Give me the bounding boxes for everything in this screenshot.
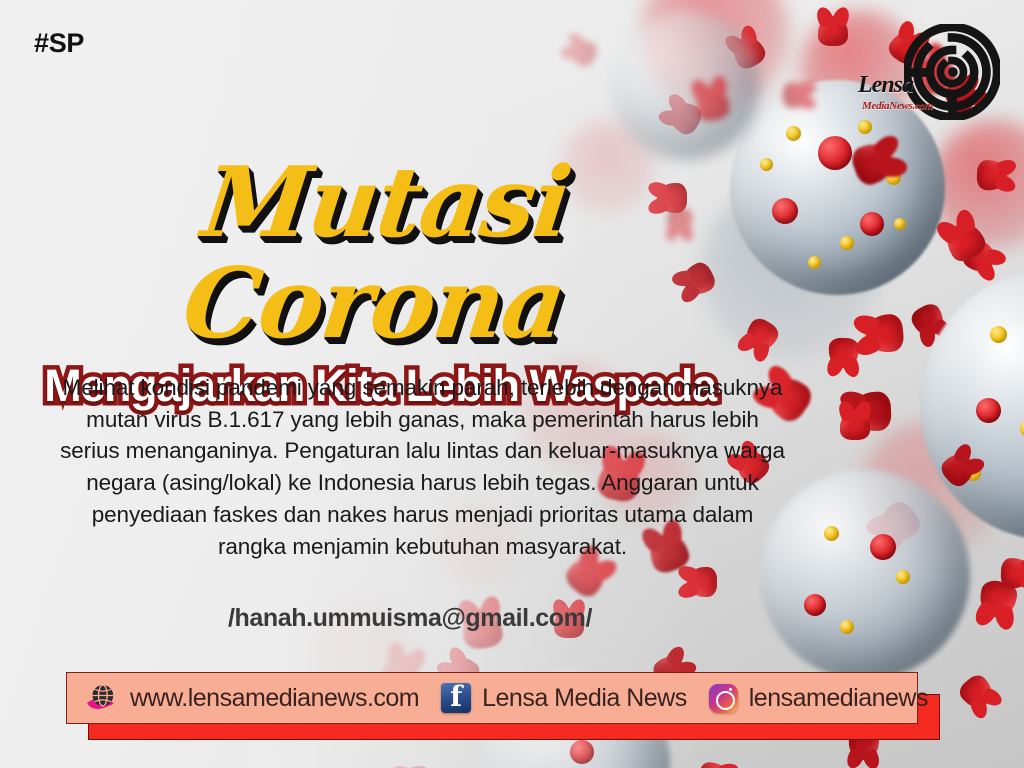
footer-facebook-label[interactable]: Lensa Media News (482, 684, 687, 713)
brand-logo: Lensa MediaNews.com (880, 24, 1002, 134)
logo-wordmark: Lensa (858, 72, 913, 99)
footer-bar: www.lensamedianews.com Lensa Media News … (66, 672, 940, 740)
hashtag-label: #SP (34, 28, 84, 59)
page-title: Mutasi Corona (0, 152, 772, 354)
globe-icon (85, 683, 119, 713)
instagram-icon[interactable] (709, 684, 738, 713)
footer-website-label[interactable]: www.lensamedianews.com (130, 684, 419, 713)
footer-instagram-label[interactable]: lensamedianews (749, 684, 928, 713)
poster-canvas: #SP Lensa MediaNews.com Mutasi Corona Me… (0, 0, 1024, 768)
author-email: /hanah.ummuisma@gmail.com/ (60, 604, 760, 633)
footer-panel: www.lensamedianews.com Lensa Media News … (66, 672, 918, 724)
facebook-icon[interactable] (441, 683, 471, 713)
body-paragraph: Melihat kondisi pandemi yang semakin par… (60, 372, 785, 562)
logo-sub-wordmark: MediaNews.com (862, 100, 933, 112)
